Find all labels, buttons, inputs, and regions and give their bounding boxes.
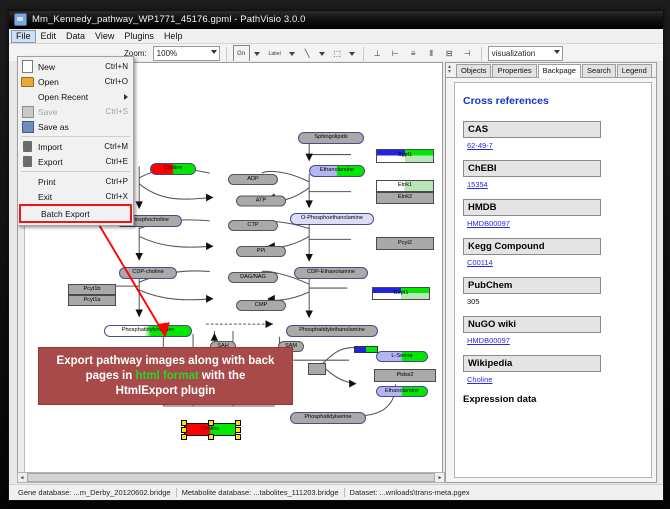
- align-left-tool-button[interactable]: ⊢: [388, 46, 403, 61]
- annotation-callout: Export pathway images along with back pa…: [38, 347, 293, 405]
- file-menu-separator-2: [21, 171, 130, 172]
- node-choline-selected[interactable]: Choline: [184, 423, 236, 436]
- node-pcyt1b[interactable]: Pcyt1b: [68, 284, 116, 295]
- file-menu-item-exit[interactable]: Exit Ctrl+X: [18, 189, 133, 204]
- node-sphingolipids[interactable]: Sphingolipids: [298, 132, 364, 144]
- file-menu-shortcut: Ctrl+O: [105, 77, 133, 86]
- desktop-background: Mm_Kennedy_pathway_WP1771_45176.gpml - P…: [0, 0, 670, 509]
- xref-link-cas[interactable]: 62-49-7: [467, 141, 493, 150]
- backpage-content: Cross references CAS 62-49-7 ChEBI 15354…: [454, 82, 652, 478]
- node-label: CTP: [247, 223, 258, 229]
- node-label: PPi: [257, 249, 266, 255]
- xref-value-kegg[interactable]: C00114: [467, 258, 643, 267]
- pathvisio-window: Mm_Kennedy_pathway_WP1771_45176.gpml - P…: [8, 10, 664, 501]
- canvas-hscrollbar[interactable]: ◄ ►: [17, 472, 445, 483]
- blank-icon: [20, 90, 35, 103]
- file-menu-shortcut: Ctrl+P: [106, 177, 133, 186]
- app-icon: [14, 13, 27, 26]
- align-top-tool-button[interactable]: ⊥: [370, 46, 385, 61]
- menu-data[interactable]: Data: [61, 30, 90, 43]
- node-ethanolamine[interactable]: Ethanolamine: [309, 165, 365, 177]
- line-tool-button[interactable]: ╲: [300, 46, 315, 61]
- node-adp[interactable]: ADP: [228, 174, 278, 185]
- stack-tool-button[interactable]: ⊣: [460, 46, 475, 61]
- import-icon: [20, 140, 35, 153]
- annotation-line3: HtmlExport plugin: [116, 385, 216, 397]
- file-menu-item-export[interactable]: Export Ctrl+E: [18, 154, 133, 169]
- xref-header-wikipedia: Wikipedia: [463, 355, 601, 372]
- file-menu-item-new[interactable]: New Ctrl+N: [18, 59, 133, 74]
- shape-tool-button[interactable]: ⬚: [330, 46, 345, 61]
- file-menu-item-open[interactable]: Open Ctrl+O: [18, 74, 133, 89]
- node-label: Phosphatidylserine: [304, 415, 351, 421]
- node-label: Phosphatidylethanolamine: [299, 328, 365, 334]
- node-phosphatidylethanolamine[interactable]: Phosphatidylethanolamine: [286, 325, 378, 337]
- new-document-icon: [20, 60, 35, 73]
- tab-backpage[interactable]: Backpage: [538, 64, 581, 78]
- xref-value-nugo[interactable]: HMDB00097: [467, 336, 643, 345]
- file-menu-item-save-as[interactable]: Save as: [18, 119, 133, 134]
- menu-help[interactable]: Help: [159, 30, 188, 43]
- expression-data-header: Expression data: [463, 394, 643, 405]
- tab-legend[interactable]: Legend: [617, 64, 652, 77]
- file-menu-dropdown[interactable]: New Ctrl+N Open Ctrl+O Open Recent Save …: [17, 56, 134, 226]
- xref-header-kegg: Kegg Compound: [463, 238, 601, 255]
- align-center-tool-button[interactable]: ≡: [406, 46, 421, 61]
- node-label: ATP: [256, 198, 266, 204]
- menu-edit[interactable]: Edit: [36, 30, 62, 43]
- scroll-thumb[interactable]: [27, 473, 435, 482]
- node-l-serine[interactable]: L-Serine: [376, 351, 428, 362]
- chevron-down-icon: [211, 50, 217, 54]
- file-menu-item-save: Save Ctrl+S: [18, 104, 133, 119]
- node-label: Pcyt2: [398, 241, 412, 247]
- node-label: Etnk1: [398, 183, 412, 189]
- xref-link-chebi[interactable]: 15354: [467, 180, 488, 189]
- node-cdp-ethanolamine[interactable]: CDP-Ethanolamine: [294, 267, 368, 279]
- status-metabolite-database: Metabolite database: ...tabolites_111203…: [176, 488, 344, 497]
- visualization-combobox[interactable]: visualization: [488, 46, 563, 61]
- scroll-left-icon[interactable]: ◄: [18, 474, 26, 481]
- tab-search[interactable]: Search: [582, 64, 616, 77]
- node-sgpl1[interactable]: Sgpl1: [376, 149, 434, 163]
- label-tool-button[interactable]: Label: [265, 46, 285, 61]
- zoom-value: 100%: [157, 49, 177, 58]
- node-cmp[interactable]: CMP: [236, 300, 286, 311]
- blank-icon-4: [23, 207, 38, 220]
- file-menu-shortcut: Ctrl+X: [106, 192, 133, 201]
- xref-link-nugo[interactable]: HMDB00097: [467, 336, 510, 345]
- xref-link-kegg[interactable]: C00114: [467, 258, 493, 267]
- node-label: Cept1: [394, 291, 409, 297]
- node-phosphatidylcholines[interactable]: Phosphatidylcholines: [104, 325, 192, 337]
- node-pcyt2[interactable]: Pcyt2: [376, 237, 434, 250]
- xref-header-chebi: ChEBI: [463, 160, 601, 177]
- file-menu-label: Import: [38, 142, 104, 152]
- gene-product-dropdown-icon[interactable]: [254, 52, 260, 56]
- toolbar-separator: [226, 47, 227, 61]
- node-label: L-Serine: [391, 354, 412, 360]
- open-folder-icon: [20, 75, 35, 88]
- save-as-icon: [20, 120, 35, 133]
- annotation-line2-before: pages in: [86, 370, 136, 382]
- node-label: CMP: [255, 303, 267, 309]
- file-menu-shortcut: Ctrl+M: [104, 142, 133, 151]
- xref-value-hmdb[interactable]: HMDB00097: [467, 219, 643, 228]
- visualization-value: visualization: [492, 49, 536, 58]
- submenu-arrow-icon: [124, 94, 128, 100]
- xref-link-wikipedia[interactable]: Choline: [467, 375, 492, 384]
- batch-export-highlight: Batch Export: [19, 204, 132, 223]
- node-label: Choline: [164, 166, 183, 172]
- status-dataset: Dataset: ...wnloads\trans-meta.pgex: [344, 488, 475, 497]
- zoom-combobox[interactable]: 100%: [153, 46, 220, 61]
- node-anchor-box: [308, 363, 326, 375]
- backpage-title: Cross references: [463, 95, 643, 107]
- export-icon: [20, 155, 35, 168]
- node-ethanolamine-2[interactable]: Ethanolamine: [376, 386, 428, 397]
- node-label: Sphingolipids: [314, 135, 347, 141]
- node-label: O-Phosphoethanolamine: [301, 216, 363, 222]
- status-bar: Gene database: ...m_Derby_20120602.bridg…: [9, 484, 663, 500]
- menu-view[interactable]: View: [90, 30, 119, 43]
- scroll-right-icon[interactable]: ►: [436, 474, 444, 481]
- file-menu-separator-1: [21, 136, 130, 137]
- node-label: Pcyt1a: [83, 298, 100, 304]
- node-label: Choline: [201, 427, 220, 433]
- blank-icon-2: [20, 175, 35, 188]
- annotation-line1: Export pathway images along with back: [57, 355, 275, 367]
- tab-properties[interactable]: Properties: [492, 64, 536, 77]
- node-atp[interactable]: ATP: [236, 196, 286, 207]
- blank-icon-3: [20, 190, 35, 203]
- file-menu-label: Open Recent: [38, 92, 133, 102]
- node-label: Phosphatidylcholines: [122, 328, 175, 334]
- file-menu-label: Export: [38, 157, 106, 167]
- node-label: CDP-Ethanolamine: [307, 270, 355, 276]
- xref-header-cas: CAS: [463, 121, 601, 138]
- node-cept1[interactable]: Cept1: [372, 287, 430, 300]
- node-pcyt1a[interactable]: Pcyt1a: [68, 295, 116, 306]
- xref-link-hmdb[interactable]: HMDB00097: [467, 219, 510, 228]
- file-menu-label: Save as: [38, 122, 128, 132]
- file-menu-label: New: [38, 62, 105, 72]
- toolbar-separator-2: [363, 47, 364, 61]
- node-label: ADP: [247, 177, 259, 183]
- side-panel: ▴▾ Objects Properties Backpage Search Le…: [445, 62, 657, 483]
- label-dropdown-icon[interactable]: [289, 52, 295, 56]
- file-menu-item-import[interactable]: Import Ctrl+M: [18, 139, 133, 154]
- line-dropdown-icon[interactable]: [319, 52, 325, 56]
- file-menu-label: Open: [38, 77, 105, 87]
- shape-dropdown-icon[interactable]: [349, 52, 355, 56]
- node-cdp-choline[interactable]: CDP-choline: [119, 267, 177, 279]
- node-choline[interactable]: Choline: [150, 163, 196, 175]
- node-label: Ptdss2: [396, 373, 413, 379]
- file-menu-label: Print: [38, 177, 106, 187]
- side-panel-tabs: Objects Properties Backpage Search Legen…: [446, 63, 656, 78]
- file-menu-label: Save: [38, 107, 106, 117]
- node-label: Ethanolamine: [385, 389, 419, 395]
- annotation-highlight: html format: [135, 370, 198, 382]
- node-label: Pcyt1b: [83, 287, 100, 293]
- xref-value-cas[interactable]: 62-49-7: [467, 141, 643, 150]
- file-menu-item-batch-export[interactable]: Batch Export: [21, 206, 130, 221]
- file-menu-label: Batch Export: [41, 209, 130, 219]
- node-o-phosphoethanolamine[interactable]: O-Phosphoethanolamine: [290, 213, 374, 225]
- node-label: CDP-choline: [132, 270, 163, 276]
- node-etnk2[interactable]: Etnk2: [376, 192, 434, 204]
- node-label: Etnk2: [398, 195, 412, 201]
- node-etnk1[interactable]: Etnk1: [376, 180, 434, 192]
- xref-value-wikipedia[interactable]: Choline: [467, 375, 643, 384]
- annotation-line2-after: with the: [199, 370, 246, 382]
- panel-grip-icon[interactable]: ▴▾: [448, 65, 453, 74]
- file-menu-item-print[interactable]: Print Ctrl+P: [18, 174, 133, 189]
- save-disk-icon: [20, 105, 35, 118]
- legend-bar-right: [354, 346, 378, 353]
- node-label: Ethanolamine: [320, 168, 354, 174]
- node-ptdss2[interactable]: Ptdss2: [374, 369, 436, 382]
- menu-bar: File Edit Data View Plugins Help: [9, 29, 663, 44]
- xref-header-pubchem: PubChem: [463, 277, 601, 294]
- chevron-down-icon-2: [554, 50, 560, 54]
- window-title: Mm_Kennedy_pathway_WP1771_45176.gpml - P…: [32, 14, 306, 25]
- xref-header-nugo: NuGO wiki: [463, 316, 601, 333]
- title-bar: Mm_Kennedy_pathway_WP1771_45176.gpml - P…: [9, 11, 663, 29]
- xref-value-chebi[interactable]: 15354: [467, 180, 643, 189]
- xref-header-hmdb: HMDB: [463, 199, 601, 216]
- node-phosphatidylserine[interactable]: Phosphatidylserine: [290, 412, 366, 424]
- tab-objects[interactable]: Objects: [456, 64, 491, 77]
- gene-product-tool-button[interactable]: Gn: [233, 45, 250, 62]
- node-ctp[interactable]: CTP: [228, 220, 278, 231]
- node-ppi[interactable]: PPi: [236, 246, 286, 257]
- node-label: Sgpl1: [398, 153, 412, 159]
- node-label: Phosphocholine: [129, 218, 169, 224]
- menu-plugins[interactable]: Plugins: [119, 30, 159, 43]
- status-gene-database: Gene database: ...m_Derby_20120602.bridg…: [13, 488, 176, 497]
- file-menu-shortcut: Ctrl+N: [105, 62, 133, 71]
- size-tool-button[interactable]: ⊟: [442, 46, 457, 61]
- file-menu-shortcut: Ctrl+S: [106, 107, 133, 116]
- toolbar-separator-3: [481, 47, 482, 61]
- file-menu-label: Exit: [38, 192, 106, 202]
- distribute-tool-button[interactable]: ⦀: [424, 46, 439, 61]
- file-menu-item-open-recent[interactable]: Open Recent: [18, 89, 133, 104]
- node-label: DAG/NAG: [240, 275, 266, 281]
- node-dag-nag[interactable]: DAG/NAG: [228, 272, 278, 283]
- xref-value-pubchem: 305: [467, 297, 643, 306]
- file-menu-shortcut: Ctrl+E: [106, 157, 133, 166]
- menu-file[interactable]: File: [11, 30, 36, 43]
